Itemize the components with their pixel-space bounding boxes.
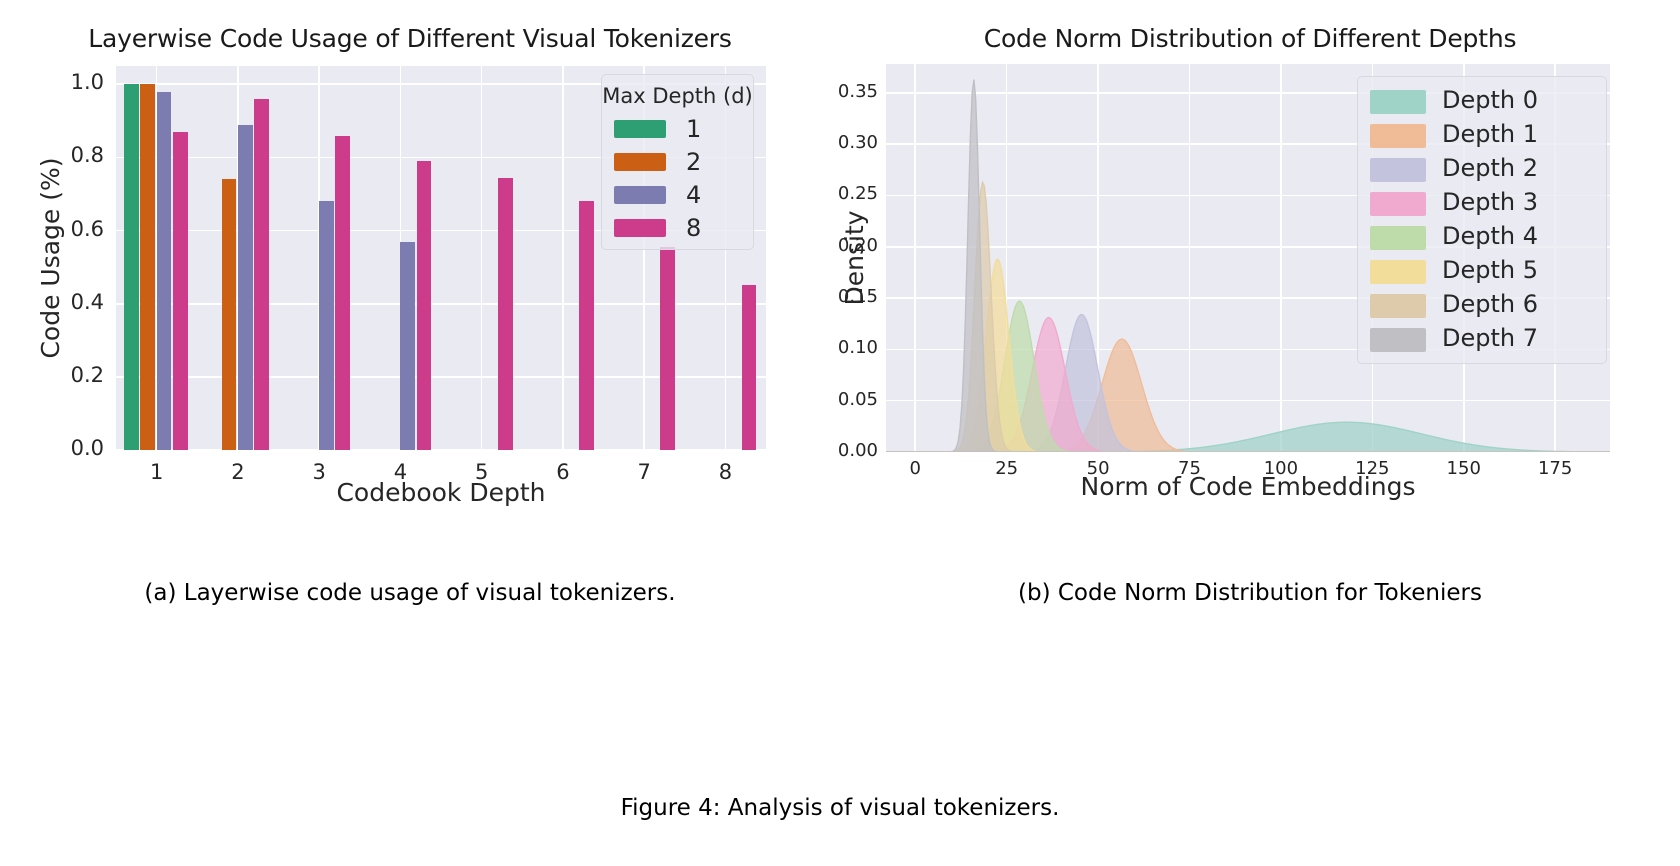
bar-depth-8-group-6	[579, 201, 594, 450]
chart-b-x-tick: 100	[1241, 458, 1321, 479]
bar-depth-4-group-1	[157, 92, 172, 450]
legend-item[interactable]: Depth 7	[1358, 325, 1606, 351]
legend-label-depth-2: 2	[686, 149, 701, 175]
legend-swatch-depth-2	[614, 153, 666, 171]
chart-a-x-tick: 5	[442, 460, 522, 484]
legend-label-depth-2: Depth 2	[1442, 155, 1538, 181]
chart-a-y-tick: 0.4	[20, 290, 104, 314]
bar-depth-8-group-1	[173, 132, 188, 450]
chart-a-x-tick: 4	[360, 460, 440, 484]
subfigure-a: Layerwise Code Usage of Different Visual…	[0, 0, 820, 620]
chart-a-title: Layerwise Code Usage of Different Visual…	[0, 24, 820, 53]
chart-b-legend: Depth 0Depth 1Depth 2Depth 3Depth 4Depth…	[1357, 76, 1607, 364]
bar-depth-1-group-1	[124, 84, 139, 450]
chart-a-x-tick: 6	[523, 460, 603, 484]
legend-swatch-depth-6	[1370, 294, 1426, 318]
legend-swatch-depth-7	[1370, 328, 1426, 352]
chart-a-x-tick: 7	[604, 460, 684, 484]
chart-a-legend: Max Depth (d) 1 2 4 8	[601, 74, 754, 250]
legend-item[interactable]: Depth 0	[1358, 87, 1606, 113]
chart-b-x-tick: 125	[1332, 458, 1412, 479]
chart-a-x-tick: 3	[279, 460, 359, 484]
chart-a-y-tick: 0.6	[20, 217, 104, 241]
legend-item[interactable]: 4	[602, 182, 753, 208]
chart-b-y-tick: 0.15	[790, 286, 878, 307]
bar-depth-8-group-8	[742, 285, 757, 450]
chart-b-y-tick: 0.35	[790, 81, 878, 102]
bar-depth-8-group-2	[254, 99, 269, 450]
gridline-vertical	[562, 66, 564, 450]
legend-swatch-depth-1	[1370, 124, 1426, 148]
chart-b-y-tick: 0.25	[790, 183, 878, 204]
chart-a-y-tick: 0.2	[20, 363, 104, 387]
legend-item[interactable]: 2	[602, 149, 753, 175]
chart-a-x-tick: 2	[198, 460, 278, 484]
bar-depth-2-group-1	[140, 84, 155, 450]
legend-swatch-depth-2	[1370, 158, 1426, 182]
chart-b-y-tick: 0.10	[790, 337, 878, 358]
legend-label-depth-6: Depth 6	[1442, 291, 1538, 317]
subcaption-a: (a) Layerwise code usage of visual token…	[0, 580, 820, 606]
subfigure-b: Code Norm Distribution of Different Dept…	[820, 0, 1680, 620]
bar-depth-8-group-4	[417, 161, 432, 450]
legend-label-depth-7: Depth 7	[1442, 325, 1538, 351]
legend-label-depth-0: Depth 0	[1442, 87, 1538, 113]
legend-swatch-depth-5	[1370, 260, 1426, 284]
legend-label-depth-8: 8	[686, 215, 701, 241]
chart-b-y-tick: 0.05	[790, 389, 878, 410]
chart-b-y-tick: 0.30	[790, 132, 878, 153]
legend-swatch-depth-3	[1370, 192, 1426, 216]
chart-a-y-tick: 0.8	[20, 143, 104, 167]
bar-depth-8-group-7	[660, 247, 675, 450]
chart-a-y-tick: 0.0	[20, 436, 104, 460]
legend-swatch-depth-1	[614, 120, 666, 138]
legend-item[interactable]: 1	[602, 116, 753, 142]
figure-4: Layerwise Code Usage of Different Visual…	[0, 0, 1680, 866]
bar-depth-4-group-3	[319, 201, 334, 450]
chart-b-title: Code Norm Distribution of Different Dept…	[820, 24, 1680, 53]
chart-b-x-tick: 0	[875, 458, 955, 479]
legend-label-depth-4: 4	[686, 182, 701, 208]
chart-b-x-tick: 175	[1515, 458, 1595, 479]
legend-item[interactable]: Depth 1	[1358, 121, 1606, 147]
gridline-vertical	[481, 66, 483, 450]
legend-label-depth-4: Depth 4	[1442, 223, 1538, 249]
chart-b-x-tick: 50	[1058, 458, 1138, 479]
bar-depth-4-group-2	[238, 125, 253, 450]
chart-a-y-tick: 1.0	[20, 70, 104, 94]
legend-title: Max Depth (d)	[602, 84, 753, 108]
legend-label-depth-1: 1	[686, 116, 701, 142]
legend-item[interactable]: Depth 2	[1358, 155, 1606, 181]
legend-swatch-depth-0	[1370, 90, 1426, 114]
legend-label-depth-5: Depth 5	[1442, 257, 1538, 283]
chart-a-x-tick: 8	[685, 460, 765, 484]
legend-swatch-depth-4	[1370, 226, 1426, 250]
legend-swatch-depth-8	[614, 219, 666, 237]
bar-depth-8-group-5	[498, 178, 513, 450]
legend-swatch-depth-4	[614, 186, 666, 204]
legend-item[interactable]: Depth 4	[1358, 223, 1606, 249]
legend-label-depth-3: Depth 3	[1442, 189, 1538, 215]
chart-b-x-tick: 150	[1424, 458, 1504, 479]
bar-depth-2-group-2	[222, 179, 237, 450]
chart-b-x-tick: 75	[1149, 458, 1229, 479]
chart-b-y-tick: 0.20	[790, 235, 878, 256]
figure-caption: Figure 4: Analysis of visual tokenizers.	[0, 795, 1680, 821]
legend-item[interactable]: Depth 3	[1358, 189, 1606, 215]
chart-b-y-tick: 0.00	[790, 440, 878, 461]
chart-a-x-tick: 1	[117, 460, 197, 484]
subcaption-b: (b) Code Norm Distribution for Tokeniers	[820, 580, 1680, 606]
chart-b-x-tick: 25	[967, 458, 1047, 479]
chart-a-y-axis-label: Code Usage (%)	[36, 157, 65, 358]
legend-item[interactable]: Depth 5	[1358, 257, 1606, 283]
legend-item[interactable]: Depth 6	[1358, 291, 1606, 317]
bar-depth-4-group-4	[400, 242, 415, 450]
bar-depth-8-group-3	[335, 136, 350, 451]
legend-label-depth-1: Depth 1	[1442, 121, 1538, 147]
legend-item[interactable]: 8	[602, 215, 753, 241]
